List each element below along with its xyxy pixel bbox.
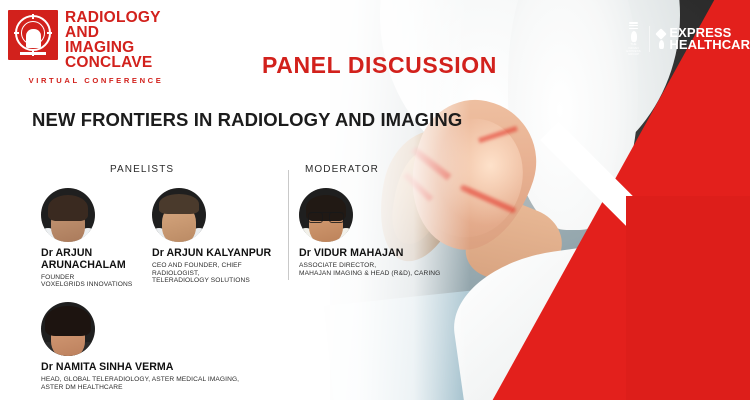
logo-line-3: IMAGING — [65, 40, 161, 55]
logo-line-2: AND — [65, 25, 161, 40]
page-title: NEW FRONTIERS IN RADIOLOGY AND IMAGING — [32, 109, 462, 131]
express-healthcare-diamond-icon — [657, 30, 665, 49]
express-healthcare-logo: THE INDIAN EXPRESS GROUP EXPRESS HEALTHC… — [626, 22, 750, 57]
panelist-role-line-1: CEO AND FOUNDER, CHIEF RADIOLOGIST, — [152, 262, 287, 277]
conclave-logo-wordmark: RADIOLOGY AND IMAGING CONCLAVE — [65, 8, 161, 70]
moderator-card: Dr VIDUR MAHAJAN ASSOCIATE DIRECTOR, MAH… — [299, 188, 469, 277]
panelist-card: Dr ARJUN KALYANPUR CEO AND FOUNDER, CHIE… — [152, 188, 287, 285]
avatar — [299, 188, 353, 242]
express-healthcare-wordmark: EXPRESS HEALTHCARE — [669, 27, 750, 52]
avatar — [152, 188, 206, 242]
panelist-role-line-1: FOUNDER — [41, 274, 161, 282]
panelist-role-line-2: VOXELGRIDS INNOVATIONS — [41, 281, 161, 289]
session-type-heading: PANEL DISCUSSION — [262, 52, 497, 79]
conference-promo-banner: RADIOLOGY AND IMAGING CONCLAVE VIRTUAL C… — [0, 0, 750, 400]
panelist-card: Dr NAMITA SINHA VERMA HEAD, GLOBAL TELER… — [41, 302, 251, 391]
mri-scanner-icon — [8, 10, 58, 60]
section-divider — [288, 170, 289, 280]
avatar — [41, 188, 95, 242]
panelist-role-line-1: HEAD, GLOBAL TELERADIOLOGY, ASTER MEDICA… — [41, 376, 251, 384]
moderator-label: MODERATOR — [305, 164, 379, 175]
avatar — [41, 302, 95, 356]
panelist-role-line-2: ASTER DM HEALTHCARE — [41, 384, 251, 392]
indian-express-torch-icon: THE INDIAN EXPRESS GROUP — [626, 22, 641, 57]
glasses-icon — [309, 212, 343, 221]
panelists-label: PANELISTS — [110, 164, 174, 175]
panelist-role-line-2: TELERADIOLOGY SOLUTIONS — [152, 277, 287, 285]
indian-express-group-caption: THE INDIAN EXPRESS GROUP — [626, 43, 641, 57]
panelist-name: Dr NAMITA SINHA VERMA — [41, 362, 251, 374]
panelist-name: Dr ARJUN ARUNACHALAM — [41, 248, 161, 271]
moderator-role-line-1: ASSOCIATE DIRECTOR, — [299, 262, 469, 270]
moderator-role-line-2: MAHAJAN IMAGING & HEAD (R&D), CARING — [299, 270, 469, 278]
conclave-logo-subtitle: VIRTUAL CONFERENCE — [8, 76, 184, 85]
moderator-name: Dr VIDUR MAHAJAN — [299, 248, 469, 260]
logo-line-4: CONCLAVE — [65, 55, 161, 70]
healthcare-word: HEALTHCARE — [669, 39, 750, 52]
panelist-name: Dr ARJUN KALYANPUR — [152, 248, 287, 260]
panelist-card: Dr ARJUN ARUNACHALAM FOUNDER VOXELGRIDS … — [41, 188, 161, 289]
logo-line-1: RADIOLOGY — [65, 10, 161, 25]
red-diagonal-band-secondary — [626, 196, 750, 400]
